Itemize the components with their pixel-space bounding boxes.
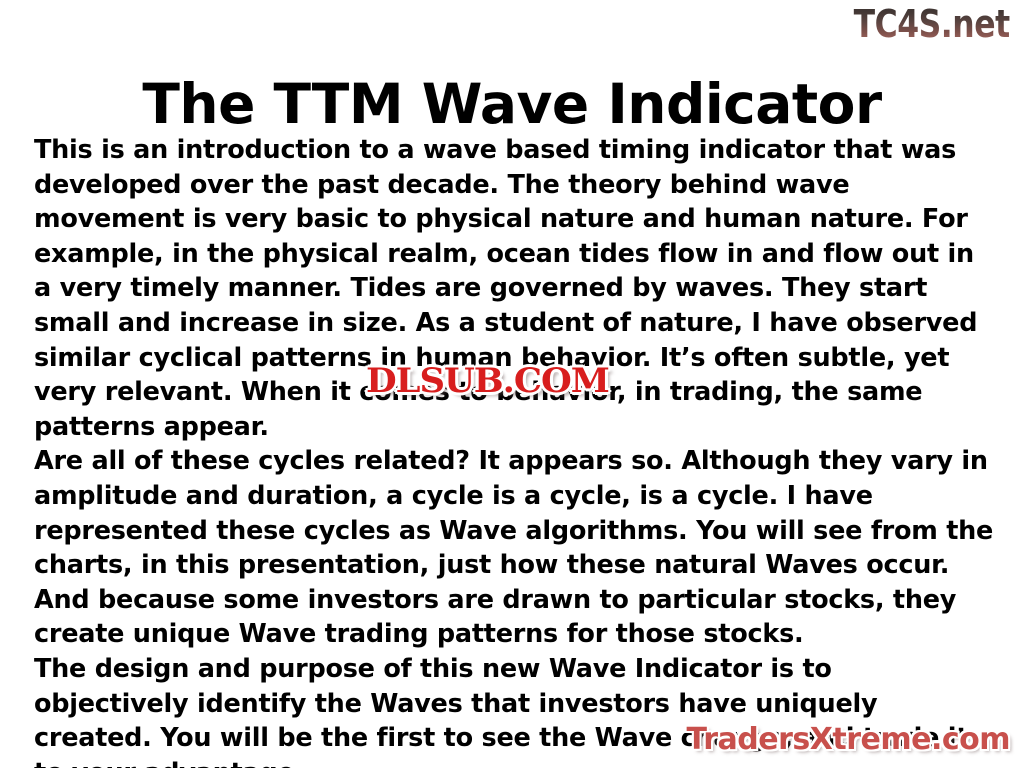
tradersxtreme-footer-logo: TradersXtreme.com — [687, 722, 1010, 758]
body-paragraph-2: Are all of these cycles related? It appe… — [34, 444, 994, 652]
tc4s-brand-logo: TC4S.net — [854, 2, 1010, 46]
body-text-block: This is an introduction to a wave based … — [34, 133, 994, 768]
presentation-slide: TC4S.net The TTM Wave Indicator This is … — [0, 0, 1024, 768]
dlsub-watermark: DLSUB.COM — [366, 362, 609, 400]
page-title: The TTM Wave Indicator — [0, 73, 1024, 135]
